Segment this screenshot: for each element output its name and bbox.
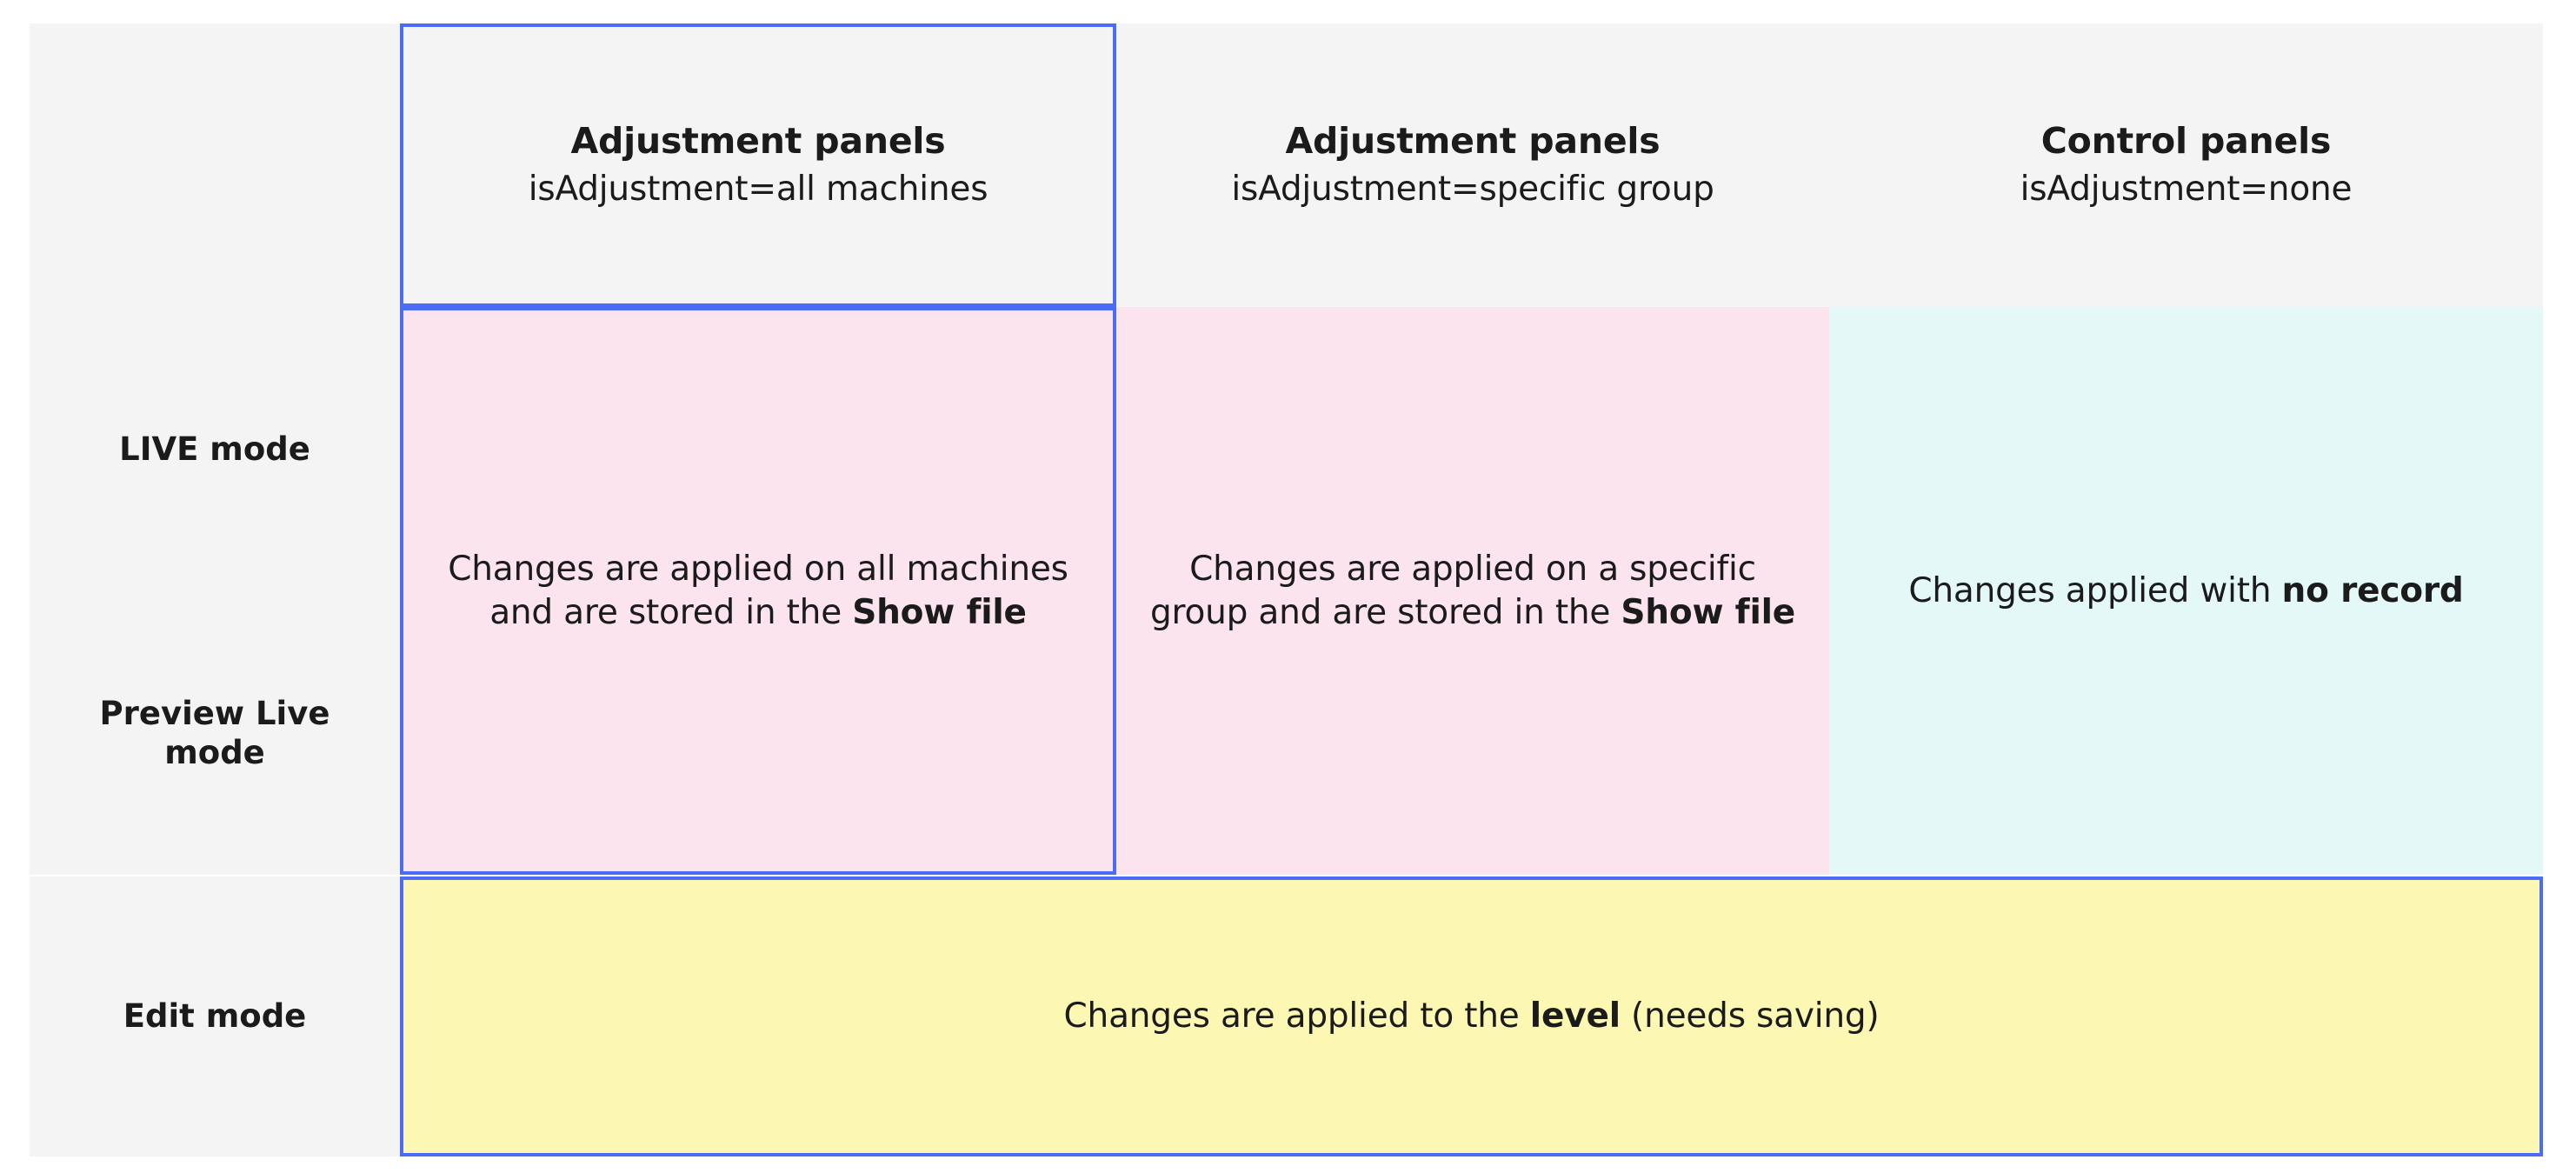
cell-text-emphasis: Show file xyxy=(852,593,1027,632)
column-header-title: Adjustment panels xyxy=(1286,119,1661,163)
column-header-title: Control panels xyxy=(2041,119,2331,163)
cell-text-emphasis: Show file xyxy=(1621,593,1795,632)
row-label-preview-live-mode[interactable]: Preview Live mode xyxy=(30,591,400,875)
row-label-live-mode[interactable]: LIVE mode xyxy=(30,307,400,591)
cell-edit-mode-all-columns[interactable]: Changes are applied to the level (needs … xyxy=(400,876,2543,1156)
row-label-text: LIVE mode xyxy=(119,430,310,469)
column-header-subtitle: isAdjustment=none xyxy=(2020,169,2353,211)
cell-text: Changes are applied to the level (needs … xyxy=(1042,995,1902,1038)
column-header-adjustment-all-machines[interactable]: Adjustment panels isAdjustment=all machi… xyxy=(400,23,1116,307)
cell-text: Changes applied with no record xyxy=(1886,570,2486,613)
matrix-corner-cell xyxy=(30,23,400,307)
cell-live-preview-adjustment-specific-group[interactable]: Changes are applied on a specific group … xyxy=(1116,307,1829,875)
cell-text-prefix: Changes applied with xyxy=(1908,571,2281,610)
cell-text: Changes are applied on all machines and … xyxy=(403,548,1113,634)
cell-text-emphasis: level xyxy=(1530,996,1621,1036)
cell-live-preview-adjustment-all-machines[interactable]: Changes are applied on all machines and … xyxy=(400,307,1116,875)
mode-panel-matrix: Adjustment panels isAdjustment=all machi… xyxy=(30,23,2543,1156)
column-header-subtitle: isAdjustment=all machines xyxy=(529,169,988,211)
row-label-edit-mode[interactable]: Edit mode xyxy=(30,876,400,1156)
cell-text-prefix: Changes are applied to the xyxy=(1064,996,1530,1036)
column-header-control-panels[interactable]: Control panels isAdjustment=none xyxy=(1829,23,2543,307)
cell-live-preview-control-panels[interactable]: Changes applied with no record xyxy=(1829,307,2543,875)
cell-text-emphasis: no record xyxy=(2282,571,2464,610)
column-header-subtitle: isAdjustment=specific group xyxy=(1231,169,1714,211)
row-label-text: Preview Live mode xyxy=(52,694,377,772)
cell-text: Changes are applied on a specific group … xyxy=(1116,548,1829,634)
cell-text-suffix: (needs saving) xyxy=(1621,996,1880,1036)
column-header-title: Adjustment panels xyxy=(571,119,946,163)
row-label-text: Edit mode xyxy=(123,996,307,1036)
column-header-adjustment-specific-group[interactable]: Adjustment panels isAdjustment=specific … xyxy=(1116,23,1829,307)
